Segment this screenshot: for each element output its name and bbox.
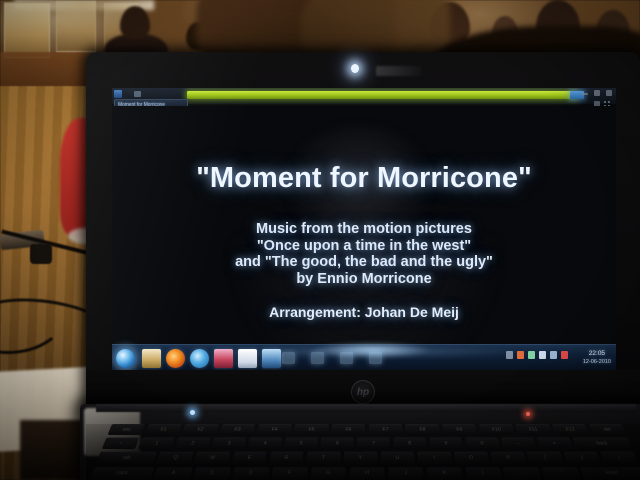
antivirus-icon[interactable] <box>517 351 524 359</box>
key-[interactable]: ~ <box>102 438 139 449</box>
audience-person <box>120 6 150 40</box>
taskbar-clock[interactable]: 22:05 12-06-2010 <box>583 349 611 367</box>
document-icon[interactable] <box>238 349 257 368</box>
key-0[interactable]: 0 <box>465 438 500 449</box>
subtitle-line: Music from the motion pictures <box>112 221 616 238</box>
key-t[interactable]: T <box>306 452 340 464</box>
laptop-screen: Moment for Morricone "Moment for Morrico… <box>112 88 616 370</box>
key-caps[interactable]: caps <box>89 467 154 480</box>
laptop-hinge <box>96 404 636 412</box>
subtitle-line: and "The good, the bad and the ugly" <box>112 254 616 271</box>
key-y[interactable]: Y <box>343 452 377 464</box>
taskbar-window-button[interactable] <box>340 352 353 364</box>
key-f2[interactable]: F2 <box>182 424 219 435</box>
clock-time: 22:05 <box>583 349 611 358</box>
key-l[interactable]: L <box>465 467 503 480</box>
key-6[interactable]: 6 <box>321 438 354 449</box>
hp-logo: hp <box>351 380 375 404</box>
network-icon[interactable] <box>528 351 535 359</box>
firefox-icon[interactable] <box>166 349 185 368</box>
key-f11[interactable]: F11 <box>515 424 552 435</box>
key-f7[interactable]: F7 <box>369 424 403 435</box>
key-u[interactable]: U <box>380 452 414 464</box>
application-icon[interactable] <box>262 349 281 368</box>
battery-icon[interactable] <box>561 351 568 359</box>
media-player-icon[interactable] <box>214 349 233 368</box>
key-r[interactable]: R <box>269 452 304 464</box>
key-a[interactable]: A <box>153 467 192 480</box>
bezel-brand-mark <box>376 66 422 76</box>
key-3[interactable]: 3 <box>211 438 246 449</box>
key-e[interactable]: E <box>231 452 267 464</box>
key-f5[interactable]: F5 <box>294 424 329 435</box>
key-tab[interactable]: tab <box>96 452 158 464</box>
key-f9[interactable]: F9 <box>442 424 477 435</box>
volume-icon[interactable] <box>539 351 546 359</box>
minimize-icon[interactable] <box>582 93 588 95</box>
key-f10[interactable]: F10 <box>479 424 515 435</box>
key-f6[interactable]: F6 <box>331 424 365 435</box>
key-d[interactable]: D <box>232 467 270 480</box>
progress-bar[interactable] <box>187 91 577 99</box>
key-s[interactable]: S <box>193 467 231 480</box>
key-1[interactable]: 1 <box>138 438 175 449</box>
taskbar-window-button[interactable] <box>311 352 324 364</box>
key-k[interactable]: K <box>426 467 463 480</box>
key-4[interactable]: 4 <box>248 438 283 449</box>
taskbar-window-button[interactable] <box>369 352 382 364</box>
key-f8[interactable]: F8 <box>405 424 440 435</box>
key-[interactable]: ; <box>503 467 541 480</box>
keyboard-row: ~1234567890-=back <box>100 438 633 449</box>
photograph-scene: Moment for Morricone "Moment for Morrico… <box>0 0 640 480</box>
window-app-icon <box>114 90 122 98</box>
key-[interactable]: [ <box>527 452 564 464</box>
taskbar-open-windows[interactable] <box>282 352 382 364</box>
window-secondary-icon <box>134 91 141 97</box>
window-pane <box>56 0 96 52</box>
key-o[interactable]: O <box>454 452 490 464</box>
close-icon[interactable] <box>606 90 612 96</box>
system-tray[interactable] <box>506 351 568 359</box>
key-p[interactable]: P <box>490 452 526 464</box>
webcam-led-icon <box>351 64 359 73</box>
key-[interactable]: ] <box>564 452 602 464</box>
keyboard-row: escF1F2F3F4F5F6F7F8F9F10F11F12del <box>105 424 626 435</box>
slide-arrangement-credit: Arrangement: Johan De Meij <box>112 304 616 320</box>
window-controls[interactable] <box>582 90 612 96</box>
power-led-icon <box>190 410 195 415</box>
subtitle-line: by Ennio Morricone <box>112 271 616 288</box>
key-5[interactable]: 5 <box>284 438 318 449</box>
key-f[interactable]: F <box>271 467 308 480</box>
keyboard-row: tabQWERTYUIOP[]\ <box>94 452 639 464</box>
key-8[interactable]: 8 <box>393 438 427 449</box>
presentation-window: Moment for Morricone "Moment for Morrico… <box>112 88 616 370</box>
key-f4[interactable]: F4 <box>257 424 292 435</box>
laptop: Moment for Morricone "Moment for Morrico… <box>86 52 640 480</box>
subtitle-line: "Once upon a time in the west" <box>112 238 616 255</box>
key-[interactable]: - <box>501 438 537 449</box>
key-g[interactable]: G <box>310 467 346 480</box>
windows-taskbar: 22:05 12-06-2010 <box>112 344 616 370</box>
slide-title: "Moment for Morricone" <box>112 162 616 195</box>
start-button[interactable] <box>116 349 135 368</box>
key-j[interactable]: J <box>388 467 424 480</box>
explorer-icon[interactable] <box>142 349 161 368</box>
slide-subtitle: Music from the motion pictures "Once upo… <box>112 221 616 287</box>
clock-date: 12-06-2010 <box>583 358 611 367</box>
charge-led-icon <box>526 412 530 416</box>
key-back[interactable]: back <box>572 438 632 449</box>
key-esc[interactable]: esc <box>108 424 146 435</box>
slide-content: "Moment for Morricone" Music from the mo… <box>112 106 616 370</box>
key-f12[interactable]: F12 <box>552 424 589 435</box>
keyboard-row: capsASDFGHJKL;'enter <box>87 467 640 480</box>
taskbar-pinned-icons[interactable] <box>142 349 281 368</box>
key-9[interactable]: 9 <box>429 438 463 449</box>
laptop-keyboard[interactable]: escF1F2F3F4F5F6F7F8F9F10F11F12del~123456… <box>72 424 640 480</box>
key-f1[interactable]: F1 <box>145 424 182 435</box>
key-[interactable]: = <box>536 438 572 449</box>
key-7[interactable]: 7 <box>357 438 390 449</box>
show-hidden-icons-icon[interactable] <box>506 351 513 359</box>
key-enter[interactable]: enter <box>580 467 640 480</box>
screen-bezel-top <box>86 52 640 90</box>
key-h[interactable]: H <box>349 467 385 480</box>
maximize-icon[interactable] <box>594 90 600 96</box>
cable-plug <box>30 244 52 264</box>
key-del[interactable]: del <box>589 424 627 435</box>
key-[interactable]: ' <box>542 467 581 480</box>
key-[interactable]: \ <box>600 452 638 464</box>
key-q[interactable]: Q <box>157 452 194 464</box>
window-pane <box>4 2 50 58</box>
key-2[interactable]: 2 <box>175 438 211 449</box>
action-center-icon[interactable] <box>550 351 557 359</box>
browser-icon[interactable] <box>190 349 209 368</box>
key-i[interactable]: I <box>417 452 452 464</box>
key-f3[interactable]: F3 <box>219 424 255 435</box>
key-w[interactable]: W <box>194 452 230 464</box>
taskbar-window-button[interactable] <box>282 352 295 364</box>
